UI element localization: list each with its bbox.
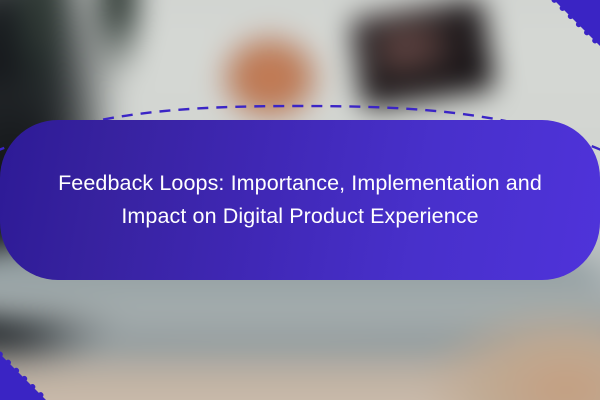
photo-smartphone-screen [374, 17, 451, 79]
photo-desk-warm-highlight [410, 300, 600, 400]
article-hero-banner: Feedback Loops: Importance, Implementati… [0, 0, 600, 400]
top-right-corner-decoration [538, 0, 600, 62]
page-title: Feedback Loops: Importance, Implementati… [40, 167, 560, 234]
bottom-left-corner-decoration [0, 338, 62, 400]
title-card: Feedback Loops: Importance, Implementati… [0, 120, 600, 280]
photo-hands-highlight [215, 30, 325, 125]
